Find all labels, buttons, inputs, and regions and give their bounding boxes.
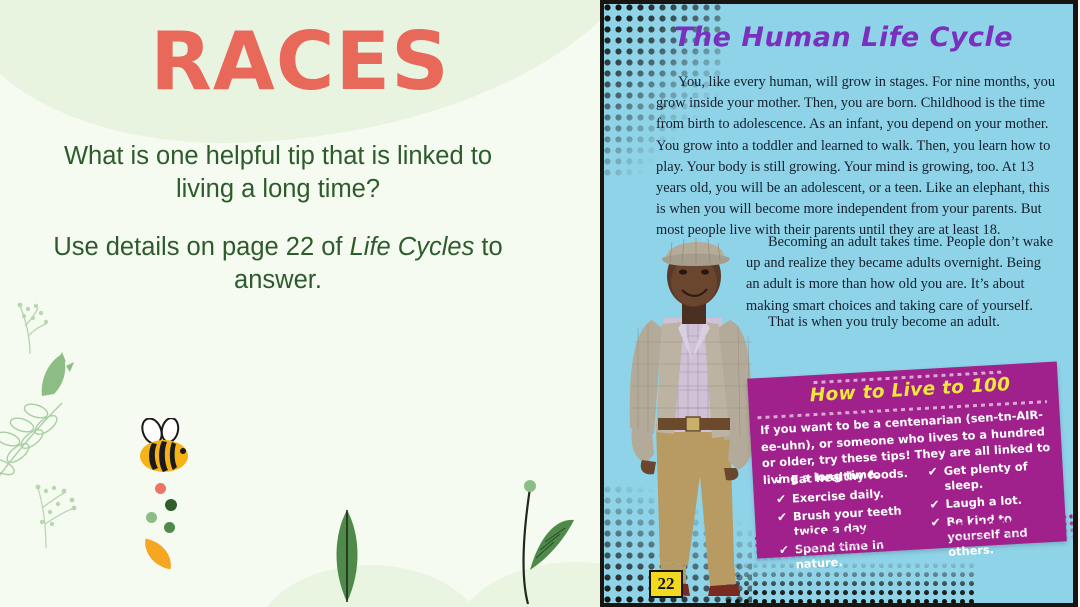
prompt-block: What is one helpful tip that is linked t… — [48, 140, 508, 297]
fern-branch-icon — [0, 395, 78, 485]
decorative-dot-green-light — [146, 512, 157, 523]
book-title: Life Cycles — [350, 233, 475, 261]
book-paragraph-1: You, like every human, will grow in stag… — [656, 72, 1056, 241]
check-icon: ✔ — [927, 464, 939, 494]
book-page-heading: The Human Life Cycle — [674, 22, 1013, 53]
leaf-stem-icon — [514, 478, 578, 606]
decorative-dot-green-dark — [165, 499, 177, 511]
page-title: RACES — [0, 22, 600, 102]
question-text: What is one helpful tip that is linked t… — [48, 140, 508, 205]
bottom-arc-left — [255, 565, 485, 607]
check-icon: ✔ — [775, 473, 786, 489]
bee-icon — [128, 418, 200, 478]
decorative-dot-coral — [155, 483, 166, 494]
botanical-sprig-icon — [8, 300, 54, 354]
tip-label: Get plenty of sleep. — [943, 457, 1065, 493]
paragraph-1-text: You, like every human, will grow in stag… — [656, 72, 1056, 241]
instruction-prefix: Use details on page 22 of — [53, 233, 349, 261]
check-icon: ✔ — [929, 497, 940, 513]
prompt-spacer — [48, 205, 508, 231]
slide-canvas: RACES What is one helpful tip that is li… — [0, 0, 1080, 607]
decorative-dot-green-mid — [164, 522, 175, 533]
tip-item: ✔ Get plenty of sleep. — [927, 457, 1065, 494]
orange-petal-icon — [141, 539, 175, 570]
left-content-panel: RACES What is one helpful tip that is li… — [0, 0, 600, 607]
tips-callout: How to Live to 100 If you want to be a c… — [604, 222, 1078, 562]
check-icon: ✔ — [776, 491, 787, 507]
leaf-cluster-icon — [36, 350, 82, 400]
book-page-image: The Human Life Cycle You, like every hum… — [600, 0, 1078, 607]
leaf-icon-center — [330, 508, 364, 604]
berry-sprig-icon — [22, 478, 80, 548]
page-number-badge: 22 — [649, 570, 683, 598]
instruction-text: Use details on page 22 of Life Cycles to… — [48, 231, 508, 296]
